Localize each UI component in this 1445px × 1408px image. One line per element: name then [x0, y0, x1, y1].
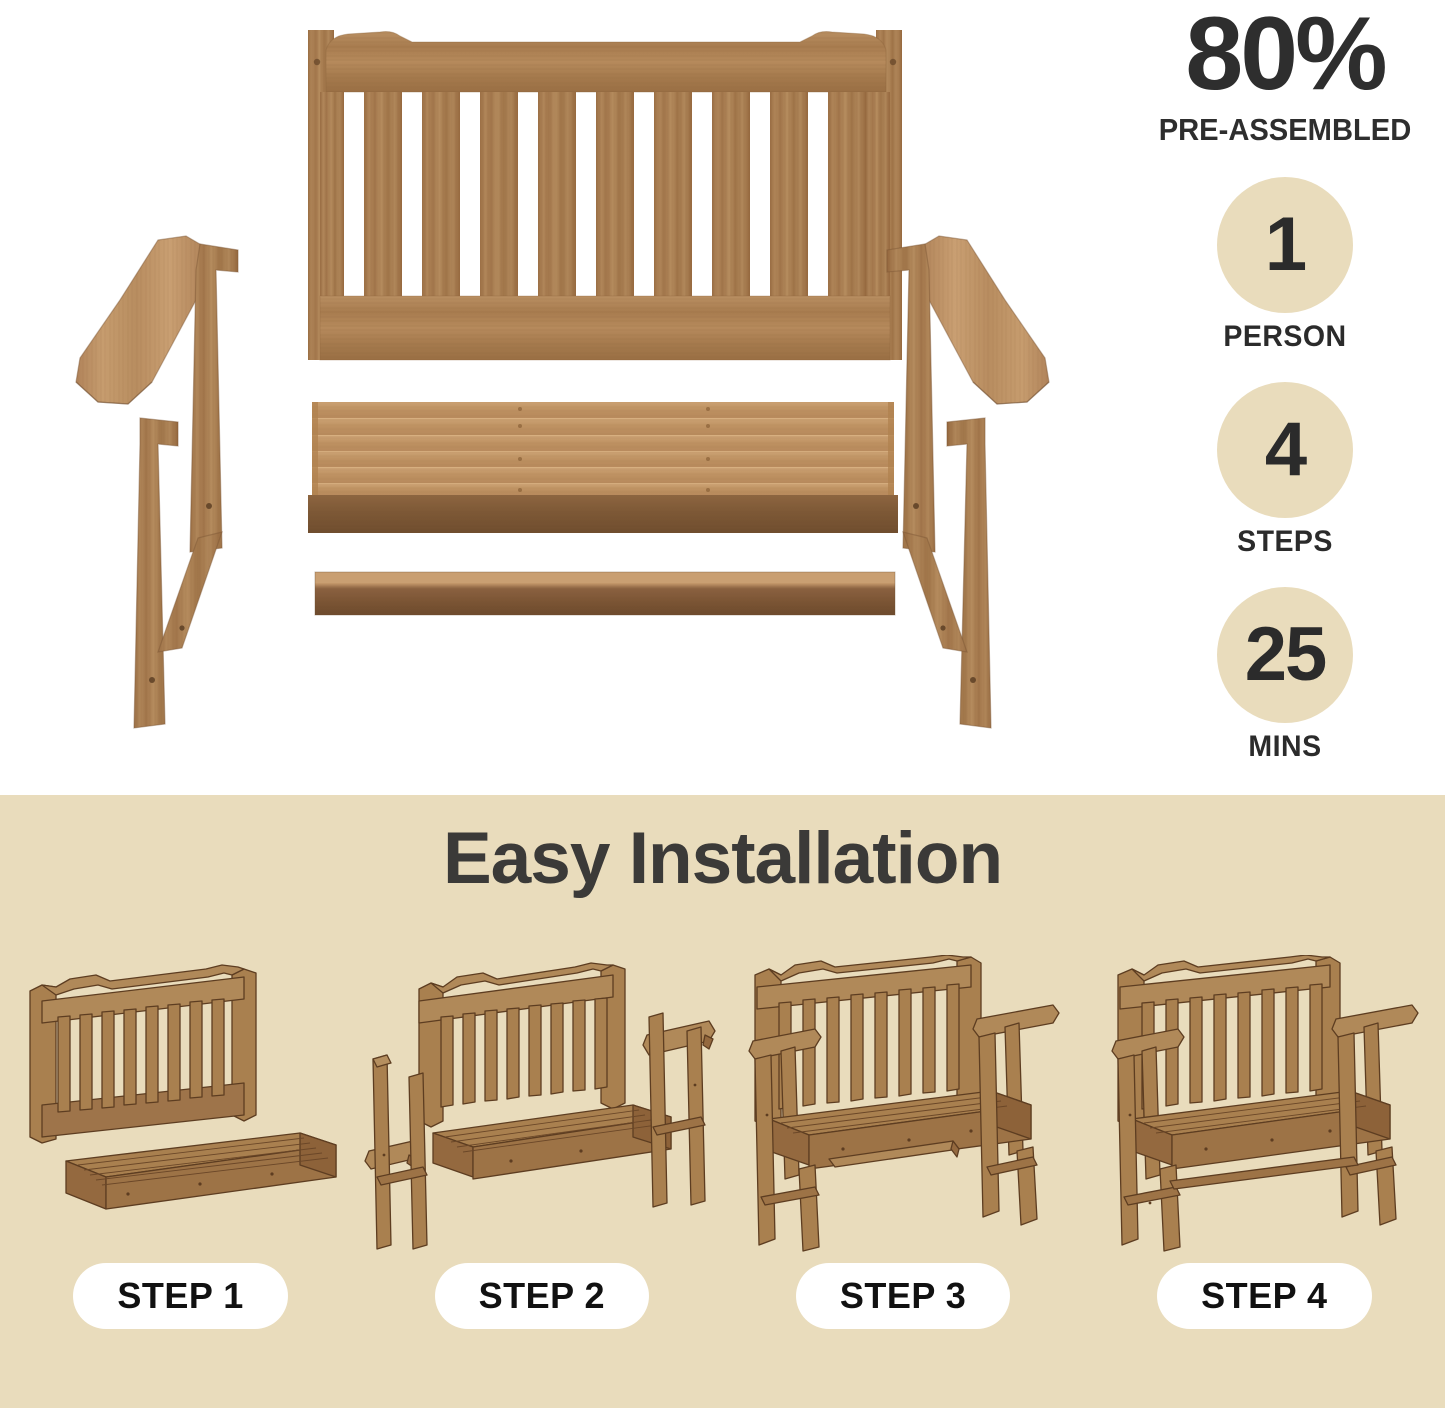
step-pill-3[interactable]: STEP 3	[796, 1263, 1010, 1329]
step-pill-cell-1: STEP 1	[0, 1263, 361, 1329]
step-1-illustration	[0, 955, 361, 1255]
stat-badge-mins: 25 MINS	[1125, 587, 1445, 764]
step-pill-cell-2: STEP 2	[361, 1263, 722, 1329]
stat-label-mins: MINS	[1133, 730, 1437, 764]
left-front-leg-part	[134, 418, 178, 728]
stat-circle-steps: 4	[1217, 382, 1353, 518]
installation-steps-illustrations	[0, 955, 1445, 1255]
front-stretcher-rail-part	[315, 572, 895, 615]
seat-panel-part	[308, 402, 898, 533]
stat-label-steps: STEPS	[1133, 525, 1437, 559]
product-parts-section: 80% PRE-ASSEMBLED 1 PERSON 4 STEPS 25 M	[0, 0, 1445, 795]
preassembled-label: PRE-ASSEMBLED	[1135, 112, 1436, 148]
stat-number-mins: 25	[1245, 617, 1326, 693]
stat-circle-person: 1	[1217, 177, 1353, 313]
step-pill-4[interactable]: STEP 4	[1157, 1263, 1371, 1329]
step-pill-2[interactable]: STEP 2	[435, 1263, 649, 1329]
right-front-leg-part	[947, 418, 991, 728]
step-pill-1[interactable]: STEP 1	[73, 1263, 287, 1329]
stat-number-person: 1	[1265, 207, 1305, 283]
step-labels-row: STEP 1 STEP 2 STEP 3 STEP 4	[0, 1263, 1445, 1329]
backrest-panel-part	[308, 30, 902, 360]
step-3-illustration	[723, 955, 1084, 1255]
left-rear-leg-part	[190, 244, 238, 552]
backrest-slats	[320, 92, 890, 296]
step-4-illustration	[1084, 955, 1445, 1255]
preassembled-headline: 80% PRE-ASSEMBLED	[1125, 2, 1445, 148]
easy-installation-section: Easy Installation	[0, 795, 1445, 1408]
preassembled-percent: 80%	[1125, 2, 1445, 106]
exploded-parts-diagram	[0, 0, 1125, 795]
stat-label-person: PERSON	[1133, 320, 1437, 354]
stat-number-steps: 4	[1265, 412, 1305, 488]
step-pill-cell-3: STEP 3	[723, 1263, 1084, 1329]
right-armrest-part	[915, 236, 1049, 404]
step-2-illustration	[361, 955, 722, 1255]
stat-badge-steps: 4 STEPS	[1125, 382, 1445, 559]
stats-column: 80% PRE-ASSEMBLED 1 PERSON 4 STEPS 25 M	[1125, 0, 1445, 795]
stat-badge-person: 1 PERSON	[1125, 177, 1445, 354]
infographic-page: 80% PRE-ASSEMBLED 1 PERSON 4 STEPS 25 M	[0, 0, 1445, 1408]
left-armrest-part	[76, 236, 210, 404]
stat-circle-mins: 25	[1217, 587, 1353, 723]
easy-installation-title: Easy Installation	[0, 817, 1445, 900]
step-pill-cell-4: STEP 4	[1084, 1263, 1445, 1329]
